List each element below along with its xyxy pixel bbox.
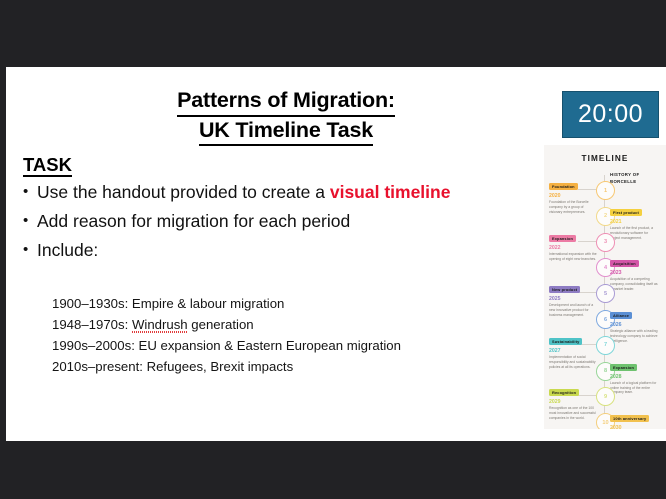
page-title-line2: UK Timeline Task [199, 117, 373, 147]
period-text: 2010s–present: Refugees, Brexit impacts [52, 359, 293, 374]
list-item: Use the handout provided to create a vis… [21, 181, 526, 204]
bullet-text: Add reason for migration for each period [37, 211, 350, 231]
timeline-title: TIMELINE [544, 154, 666, 163]
timeline-entry-year: 2026 [610, 322, 658, 328]
timeline-entry-year: 2028 [610, 374, 658, 380]
timeline-entry-year: 2022 [549, 245, 597, 251]
list-item: 1900–1930s: Empire & labour migration [52, 294, 532, 315]
timeline-entry-tag: Recognition [549, 389, 579, 396]
list-item: Include: [21, 239, 526, 262]
timeline-entry-year: 2021 [610, 219, 658, 225]
task-heading: TASK [23, 154, 72, 176]
misspelled-word: Windrush [132, 317, 188, 333]
timeline-entry: Foundation2020Foundation of the Borcelle… [549, 175, 597, 215]
timeline-entry: New product2025Development and launch of… [549, 278, 597, 318]
list-item: 2010s–present: Refugees, Brexit impacts [52, 357, 532, 378]
period-sublist: 1900–1930s: Empire & labour migration 19… [52, 294, 532, 377]
letterbox-top [0, 0, 666, 67]
timeline-entry-tag: Sustainability [549, 338, 582, 345]
timeline-entry-year: 2027 [549, 348, 597, 354]
timeline-entry-tag: Expansion [610, 364, 637, 371]
timeline-entry-description: Foundation of the Borcelle company by a … [549, 200, 597, 215]
list-item: 1990s–2000s: EU expansion & Eastern Euro… [52, 336, 532, 357]
timeline-node-1: 1 [596, 181, 615, 200]
timeline-entry: Expansion2028Launch of a logical platfor… [610, 356, 658, 396]
timeline-entry-description: Development and launch of a new innovati… [549, 303, 597, 318]
timeline-entry: Expansion2022International expansion wit… [549, 227, 597, 262]
timeline-entry-tag: 10th anniversary [610, 415, 649, 422]
timeline-entry-description: International expansion with the opening… [549, 252, 597, 262]
timeline-entry-tag: First product [610, 209, 642, 216]
timeline-entry-year: 2030 [610, 425, 658, 429]
period-text: 1990s–2000s: EU expansion & Eastern Euro… [52, 338, 401, 353]
timeline-entry-year: 2023 [610, 270, 658, 276]
list-item: Add reason for migration for each period [21, 210, 526, 233]
timeline-node-5: 5 [596, 284, 615, 303]
period-text: 1900–1930s: Empire & labour migration [52, 296, 284, 311]
timeline-entry-tag: Acquisition [610, 260, 639, 267]
bullet-highlight: visual timeline [330, 182, 451, 202]
timeline-entry-year: 2020 [549, 193, 597, 199]
timeline-entry-description: Acquisition of a competing company, cons… [610, 277, 658, 292]
timeline-entry: Recognition2029Recognition as one of the… [549, 381, 597, 421]
timeline-entry-year: 2025 [549, 296, 597, 302]
timeline-entry-tag: Alliance [610, 312, 632, 319]
page-title-line1: Patterns of Migration: [177, 87, 395, 117]
timeline-entry-year: 2029 [549, 399, 597, 405]
bullet-text: Use the handout provided to create a [37, 182, 330, 202]
period-text-tail: generation [188, 317, 254, 332]
timeline-node-9: 9 [596, 387, 615, 406]
timeline-entry: 10th anniversary2030Celebrating a decade… [610, 407, 658, 429]
timeline-entry-tag: Foundation [549, 183, 578, 190]
timer-value: 20:00 [578, 100, 643, 129]
screen-root: Patterns of Migration: UK Timeline Task … [0, 0, 666, 499]
timeline-entry: First product2021Launch of the first pro… [610, 201, 658, 241]
timeline-node-3: 3 [596, 233, 615, 252]
list-item: 1948–1970s: Windrush generation [52, 315, 532, 336]
timeline-entry-tag: Expansion [549, 235, 576, 242]
timeline-entry-description: Strategic alliance with a leading techno… [610, 329, 658, 344]
timeline-entry-description: Launch of a logical platform for online … [610, 381, 658, 396]
timeline-entry-description: Implementation of social responsibility … [549, 355, 597, 370]
timeline-node-7: 7 [596, 336, 615, 355]
period-text: 1948–1970s: [52, 317, 132, 332]
timeline-subtitle: HISTORY OF BORCELLE [610, 172, 664, 186]
presentation-slide: Patterns of Migration: UK Timeline Task … [6, 67, 666, 441]
bullet-text: Include: [37, 240, 98, 260]
timeline-entry: Acquisition2023Acquisition of a competin… [610, 252, 658, 292]
timeline-entry-description: Recognition as one of the 100 most innov… [549, 406, 597, 421]
timeline-entry: Sustainability2027Implementation of soci… [549, 330, 597, 370]
page-title: Patterns of Migration: UK Timeline Task [36, 87, 536, 146]
letterbox-bottom [0, 441, 666, 499]
timeline-entry-description: Launch of the first product, a revolutio… [610, 226, 658, 241]
timeline-infographic-image[interactable]: TIMELINE HISTORY OF BORCELLE 1Foundation… [544, 145, 666, 429]
timeline-entry-tag: New product [549, 286, 580, 293]
countdown-timer-badge[interactable]: 20:00 [562, 91, 659, 138]
task-bullet-list: Use the handout provided to create a vis… [21, 181, 526, 268]
task-heading-label: TASK [23, 154, 72, 177]
timeline-entry: Alliance2026Strategic alliance with a le… [610, 304, 658, 344]
